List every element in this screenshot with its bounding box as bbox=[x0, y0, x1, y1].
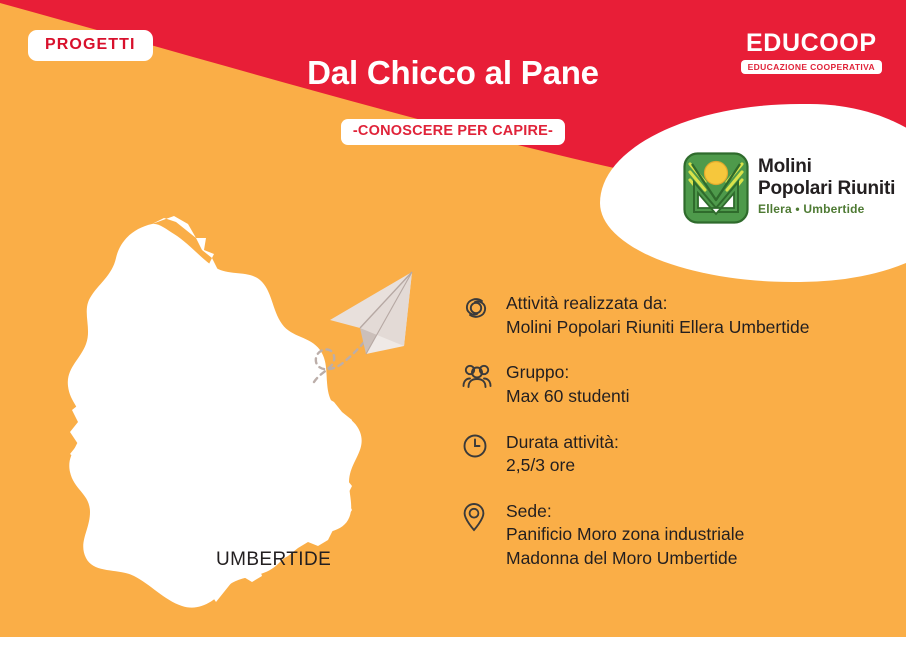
paper-plane bbox=[300, 258, 430, 388]
list-item-value: Molini Popolari Riuniti Ellera Umbertide bbox=[506, 316, 882, 340]
list-item: Gruppo: Max 60 studenti bbox=[462, 361, 882, 408]
group-people-icon bbox=[462, 361, 506, 394]
partner-logo-line1: Molini bbox=[758, 157, 895, 176]
project-details-list: Attività realizzata da: Molini Popolari … bbox=[462, 292, 882, 571]
list-item: Durata attività: 2,5/3 ore bbox=[462, 431, 882, 478]
list-item: Attività realizzata da: Molini Popolari … bbox=[462, 292, 882, 339]
clock-icon bbox=[462, 431, 506, 464]
partner-logo-text: Molini Popolari Riuniti Ellera • Umberti… bbox=[758, 152, 895, 215]
partner-logo-line2: Popolari Riuniti bbox=[758, 179, 895, 198]
paper-plane-icon bbox=[300, 258, 430, 388]
bottom-divider bbox=[0, 637, 906, 645]
partner-logo-line3: Ellera • Umbertide bbox=[758, 203, 895, 215]
list-item-label: Durata attività: bbox=[506, 431, 882, 455]
map-pin-icon bbox=[462, 500, 506, 537]
cooperative-swirl-icon bbox=[462, 292, 506, 327]
list-item-value-2: Madonna del Moro Umbertide bbox=[506, 547, 882, 571]
map-region-label: UMBERTIDE bbox=[216, 550, 331, 569]
list-item-value: Max 60 studenti bbox=[506, 385, 882, 409]
list-item-value: 2,5/3 ore bbox=[506, 454, 882, 478]
educoop-wordmark: EDUCOOP bbox=[741, 31, 882, 56]
list-item-value: Panificio Moro zona industriale bbox=[506, 523, 882, 547]
educoop-logo: EDUCOOP EDUCAZIONE COOPERATIVA bbox=[741, 31, 882, 75]
list-item: Sede: Panificio Moro zona industriale Ma… bbox=[462, 500, 882, 571]
partner-logo: Molini Popolari Riuniti Ellera • Umberti… bbox=[683, 152, 895, 229]
list-item-label: Sede: bbox=[506, 500, 882, 524]
educoop-tagline: EDUCAZIONE COOPERATIVA bbox=[741, 60, 882, 74]
list-item-label: Attività realizzata da: bbox=[506, 292, 882, 316]
subtitle-badge: -CONOSCERE PER CAPIRE- bbox=[341, 119, 565, 145]
project-poster: PROGETTI Dal Chicco al Pane -CONOSCERE P… bbox=[0, 0, 906, 645]
molini-wheat-mark-icon bbox=[683, 152, 749, 229]
list-item-label: Gruppo: bbox=[506, 361, 882, 385]
subtitle-container: -CONOSCERE PER CAPIRE- bbox=[0, 119, 906, 145]
